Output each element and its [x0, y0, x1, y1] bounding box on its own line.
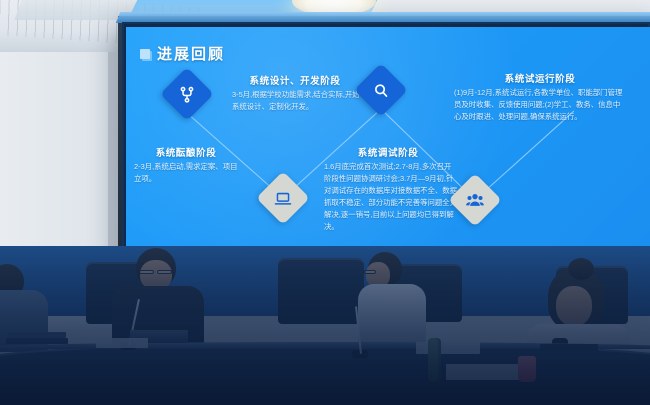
screenshot-scene: 进展回顾 系统酝酿阶段 2-3月,系统启动,需求定案、项目立项。: [0, 0, 650, 405]
laptop-icon: [274, 189, 293, 208]
stage-3-body: 1.6月底完成首次测试;2.7-8月,多次召开阶段性问题协调研讨会;3.7月—9…: [324, 161, 458, 233]
stage-1-body: 2-3月,系统启动,需求定案、项目立项。: [134, 161, 238, 185]
stage-3-heading: 系统调试阶段: [322, 145, 454, 159]
stage-2-heading: 系统设计、开发阶段: [230, 73, 360, 87]
stage-4-heading: 系统试运行阶段: [456, 71, 624, 85]
stage-1-heading: 系统酝酿阶段: [132, 145, 240, 159]
conference-room-foreground: [0, 246, 650, 405]
magnifier-icon: [372, 81, 391, 100]
stage-4-body: (1)9月-12月,系统试运行,各教学单位、职能部门管理员及时收集、反馈使用问题…: [454, 87, 626, 123]
stage-2-body: 3-5月,根据学校功能需求,结合实际,开始系统设计、定制化开发。: [232, 89, 360, 113]
foreground-lighting-overlay: [0, 246, 650, 405]
branch-network-icon: [178, 85, 197, 104]
users-group-icon: [465, 190, 485, 210]
